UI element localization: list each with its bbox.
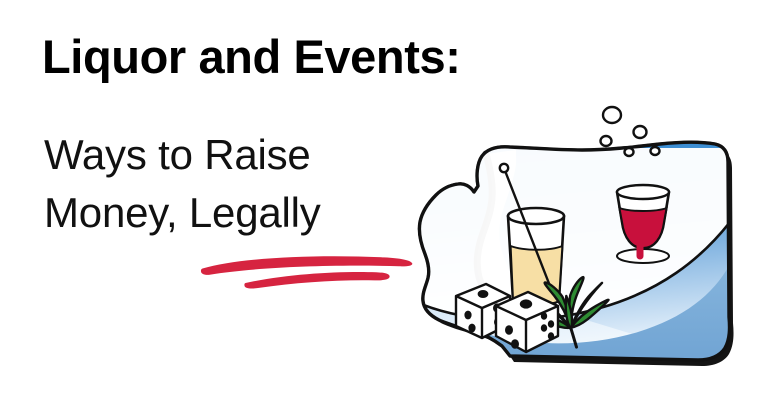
- banner-graphic: Liquor and Events: Ways to Raise Money, …: [0, 0, 768, 402]
- red-swoosh-underline: [198, 252, 416, 294]
- page-title: Liquor and Events:: [42, 32, 460, 81]
- washington-state-graphic: [398, 88, 768, 388]
- text-block: Liquor and Events: Ways to Raise Money, …: [0, 0, 430, 402]
- wine-glass: [617, 185, 669, 263]
- page-subtitle: Ways to Raise Money, Legally: [44, 126, 321, 242]
